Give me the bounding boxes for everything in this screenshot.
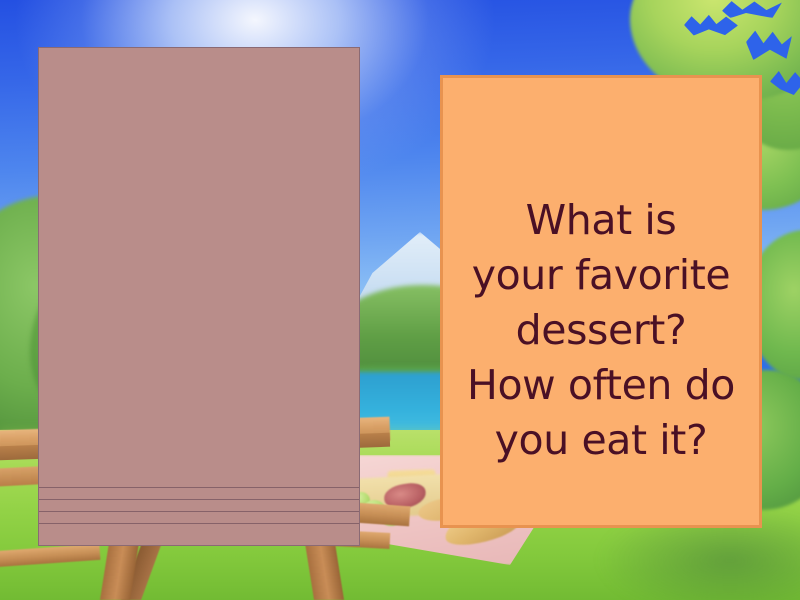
face-down-card[interactable]: [38, 47, 360, 546]
card-stack-lines: [39, 487, 359, 545]
card-stack-line: [39, 523, 359, 524]
slide-canvas: What is your favorite dessert? How often…: [0, 0, 800, 600]
card-stack-line: [39, 499, 359, 500]
question-card[interactable]: What is your favorite dessert? How often…: [440, 75, 762, 528]
card-stack-line: [39, 511, 359, 512]
question-text: What is your favorite dessert? How often…: [455, 193, 747, 468]
card-stack-line: [39, 487, 359, 488]
